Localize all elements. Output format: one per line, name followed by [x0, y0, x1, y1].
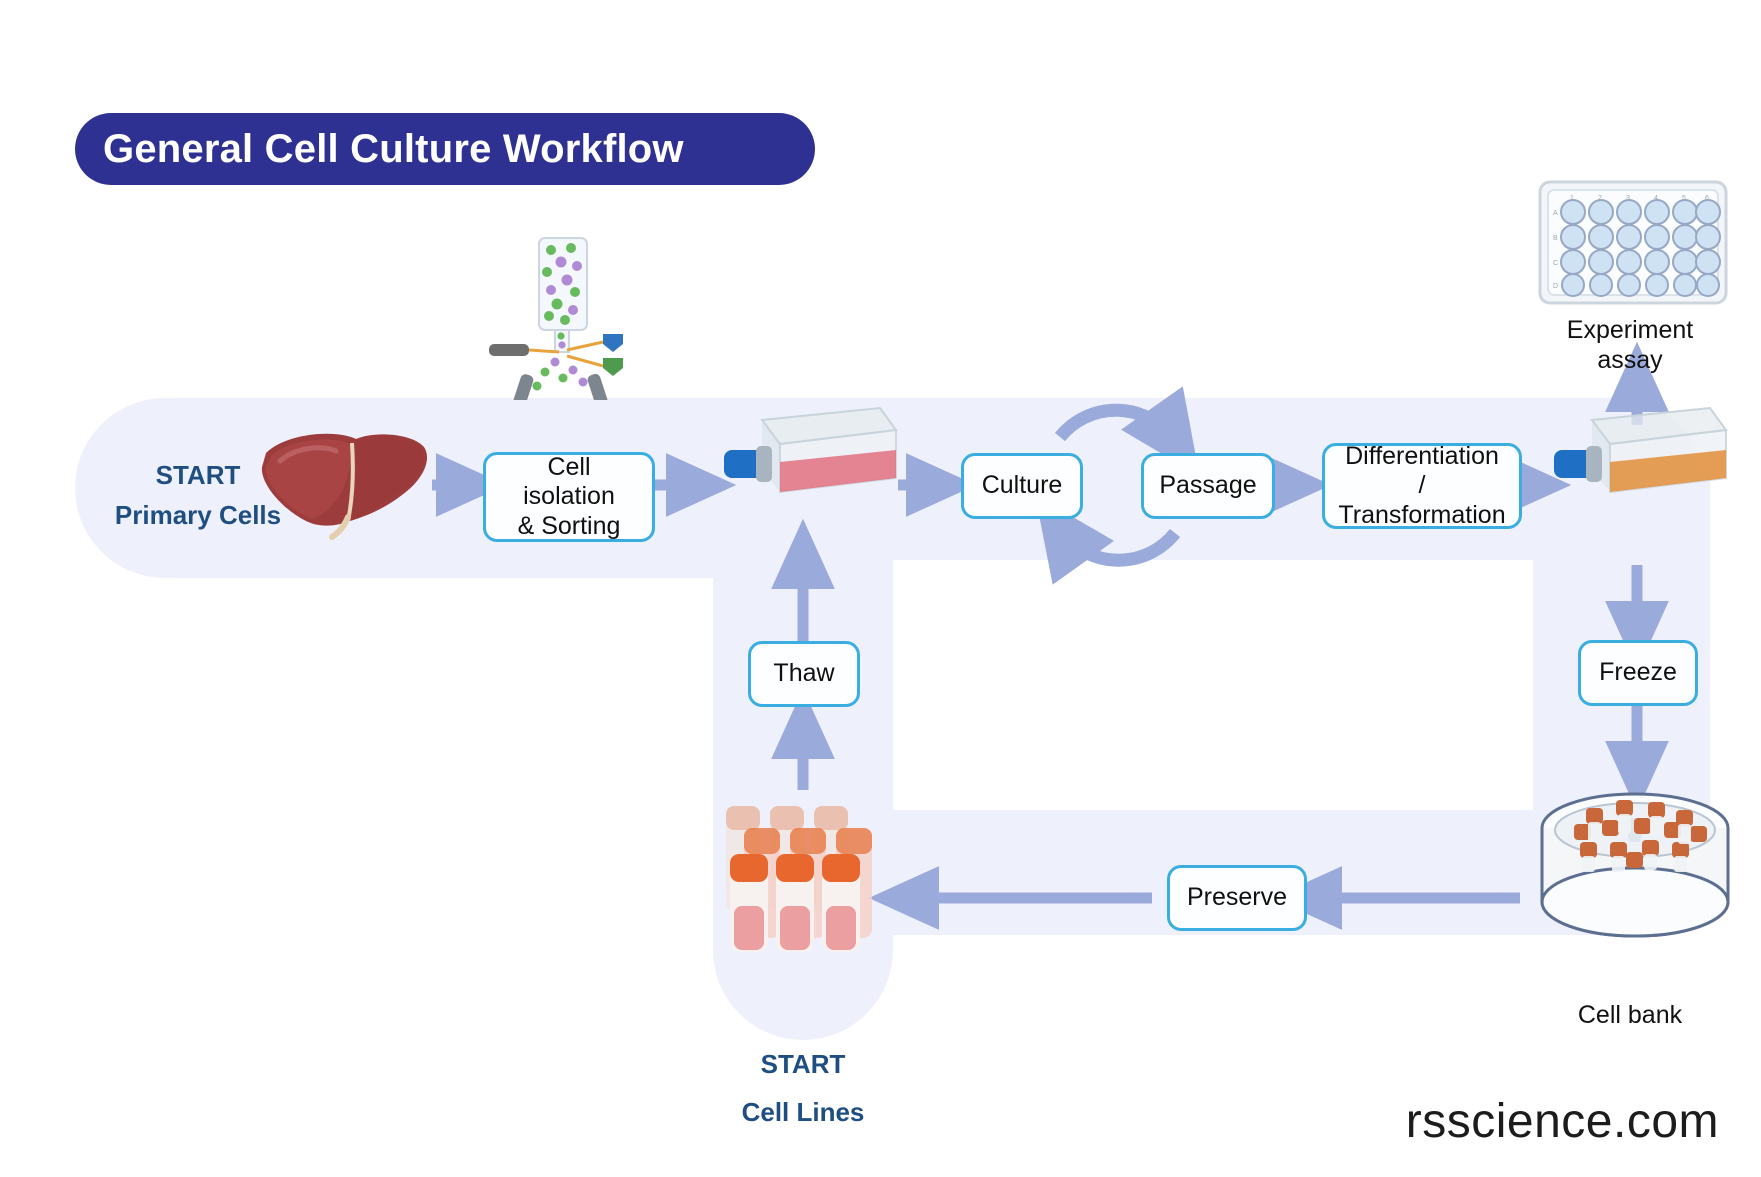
facs-cell-sorter-illustration: [487, 232, 637, 400]
svg-text:D: D: [1553, 283, 1558, 290]
svg-text:A: A: [1553, 210, 1558, 217]
svg-text:1: 1: [1570, 195, 1574, 202]
node-freeze-label: Freeze: [1591, 658, 1685, 688]
node-preserve[interactable]: Preserve: [1167, 865, 1307, 931]
node-passage-label: Passage: [1151, 471, 1264, 501]
culture-flask-orange-illustration: [1530, 400, 1730, 510]
start-celllines-line1: START: [683, 1040, 923, 1088]
caption-assay-line1: Experiment: [1530, 315, 1730, 345]
page-title: General Cell Culture Workflow: [75, 127, 684, 172]
svg-text:4: 4: [1654, 195, 1658, 202]
caption-cellbank-line1: Cell bank: [1530, 1000, 1730, 1030]
node-thaw-label: Thaw: [765, 659, 842, 689]
svg-text:C: C: [1553, 260, 1558, 267]
start-label-cell-lines: START Cell Lines: [683, 1040, 923, 1136]
node-differentiation-line1: Differentiation /: [1330, 442, 1513, 501]
svg-text:5: 5: [1682, 195, 1686, 202]
svg-text:3: 3: [1626, 195, 1630, 202]
node-cell-isolation-line2: & Sorting: [494, 512, 644, 542]
node-culture-label: Culture: [974, 471, 1071, 501]
caption-cell-bank: Cell bank: [1530, 1000, 1730, 1030]
culture-flask-pink-illustration: [700, 400, 900, 510]
start-label-primary-cells: START Primary Cells: [78, 455, 318, 536]
node-differentiation-transformation[interactable]: Differentiation / Transformation: [1322, 443, 1522, 529]
watermark-rsscience: rsscience.com: [1406, 1094, 1719, 1149]
caption-assay-line2: assay: [1530, 345, 1730, 375]
svg-text:2: 2: [1598, 195, 1602, 202]
diagram-canvas: 123 456 AB CD: [0, 0, 1761, 1177]
svg-text:6: 6: [1705, 195, 1709, 202]
caption-experiment-assay: Experiment assay: [1530, 315, 1730, 375]
title-banner: General Cell Culture Workflow: [75, 113, 815, 185]
node-thaw[interactable]: Thaw: [748, 641, 860, 707]
svg-text:B: B: [1553, 235, 1558, 242]
node-preserve-label: Preserve: [1179, 883, 1295, 913]
start-primary-line1: START: [78, 455, 318, 495]
node-culture[interactable]: Culture: [961, 453, 1083, 519]
node-cell-isolation-line1: Cell isolation: [494, 453, 644, 512]
cryo-cell-bank-illustration: [1538, 790, 1733, 950]
start-celllines-line2: Cell Lines: [683, 1088, 923, 1136]
node-passage[interactable]: Passage: [1141, 453, 1275, 519]
node-freeze[interactable]: Freeze: [1578, 640, 1698, 706]
start-primary-line2: Primary Cells: [78, 495, 318, 535]
track-cutout-center: [893, 560, 1533, 810]
node-cell-isolation[interactable]: Cell isolation & Sorting: [483, 452, 655, 542]
24-well-plate-illustration: 123 456 AB CD: [1538, 180, 1728, 305]
cryovial-rack-illustration: [714, 798, 894, 956]
node-differentiation-line2: Transformation: [1330, 501, 1513, 531]
